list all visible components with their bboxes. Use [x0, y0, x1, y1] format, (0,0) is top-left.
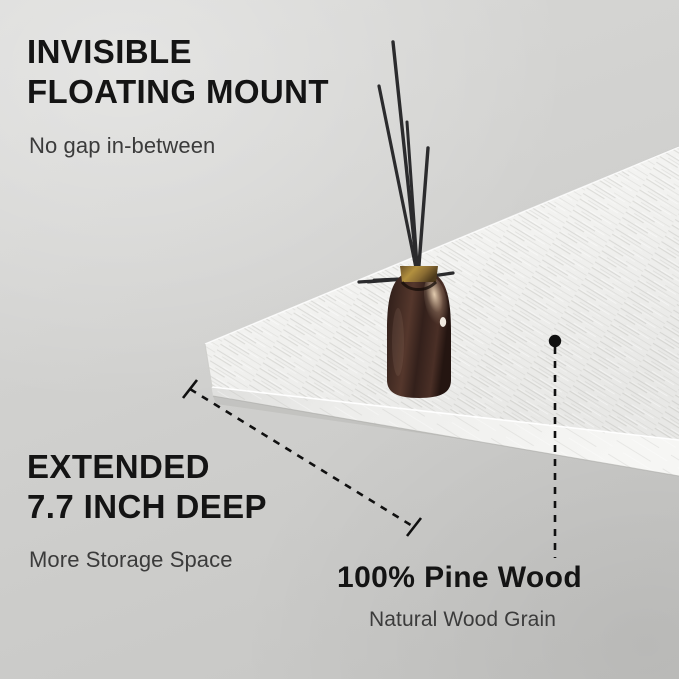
- material-callout-dot: [549, 335, 561, 347]
- product-image-canvas: INVISIBLE FLOATING MOUNT No gap in-betwe…: [0, 0, 679, 679]
- callout-material-headline: 100% Pine Wood: [337, 560, 582, 597]
- callout-depth-subtitle-wrap: More Storage Space: [29, 547, 233, 573]
- callout-depth-subtitle: More Storage Space: [29, 547, 233, 573]
- callout-depth: EXTENDED 7.7 INCH DEEP: [27, 447, 267, 528]
- callout-material: 100% Pine Wood: [337, 560, 582, 597]
- depth-tick-end: [407, 518, 421, 536]
- depth-tick-start: [183, 380, 197, 398]
- callout-material-subtitle: Natural Wood Grain: [369, 608, 556, 632]
- callout-depth-headline: EXTENDED 7.7 INCH DEEP: [27, 447, 267, 528]
- callout-floating-mount: INVISIBLE FLOATING MOUNT: [27, 32, 329, 113]
- callout-floating-mount-subtitle-wrap: No gap in-between: [29, 133, 215, 159]
- callout-floating-mount-subtitle: No gap in-between: [29, 133, 215, 159]
- callout-floating-mount-headline: INVISIBLE FLOATING MOUNT: [27, 32, 329, 113]
- callout-material-subtitle-wrap: Natural Wood Grain: [369, 608, 556, 632]
- material-leader-annotation: [549, 335, 561, 558]
